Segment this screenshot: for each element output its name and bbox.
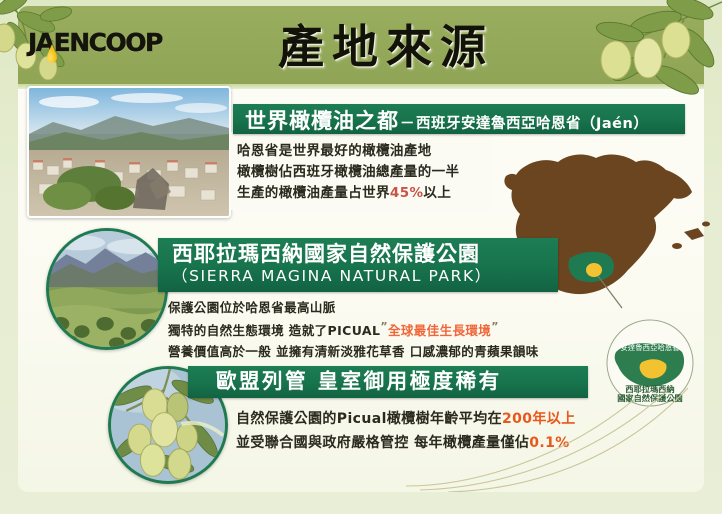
body-line: 獨特的自然生態環境 造就了PICUAL”全球最佳生長環境”	[168, 318, 558, 341]
text-run-plain: 獨特的自然生態環境 造就了PICUAL	[168, 323, 380, 338]
page-title: 產地來源	[236, 6, 536, 82]
map-callout-bubble: 安達魯西亞哈恩省 西耶拉瑪西納 國家自然保護公園	[598, 318, 702, 408]
photo-jaen-city	[27, 86, 231, 218]
text-run-plain: 哈恩省是世界最好的橄欖油產地	[237, 143, 432, 159]
section-2-title: 西耶拉瑪西納國家自然保護公園	[172, 242, 480, 267]
callout-park-line2: 國家自然保護公園	[617, 393, 683, 403]
section-3-body: 自然保護公園的Picual橄欖樹年齡平均在200年以上 並受聯合國與政府嚴格管控…	[188, 407, 588, 455]
text-run-plain: 橄欖樹佔西班牙橄欖油總產量的一半	[237, 164, 459, 180]
text-run-plain: 以上	[423, 185, 451, 201]
text-run-plain: 營養價值高於一般 並擁有清新淡雅花草香 口感濃郁的青蘋果韻味	[168, 344, 539, 359]
content-block-eu: 歐盟列管 皇室御用極度稀有 自然保護公園的Picual橄欖樹年齡平均在200年以…	[188, 366, 588, 455]
section-1-body: 哈恩省是世界最好的橄欖油產地 橄欖樹佔西班牙橄欖油總產量的一半 生產的橄欖油產量…	[233, 141, 685, 204]
brand-logo[interactable]: JAENCOOP	[28, 28, 162, 57]
text-run-quote: ”	[380, 320, 388, 333]
section-bar-1: 世界橄欖油之都 － 西班牙安達魯西亞哈恩省（Jaén）	[233, 104, 685, 134]
text-run-orange: 0.1%	[529, 435, 569, 451]
callout-region-label: 安達魯西亞哈恩省	[620, 343, 679, 352]
section-2-body: 保護公園位於哈恩省最高山脈 獨特的自然生態環境 造就了PICUAL”全球最佳生長…	[158, 298, 558, 362]
body-line: 生產的橄欖油產量占世界45%以上	[237, 183, 685, 204]
content-block-jaen: 世界橄欖油之都 － 西班牙安達魯西亞哈恩省（Jaén） 哈恩省是世界最好的橄欖油…	[233, 104, 685, 204]
body-line: 保護公園位於哈恩省最高山脈	[168, 298, 558, 318]
text-run-plain: 保護公園位於哈恩省最高山脈	[168, 300, 336, 315]
photo-sierra-magina	[46, 228, 168, 350]
text-run-quote: ”	[491, 320, 499, 333]
body-line: 並受聯合國與政府嚴格管控 每年橄欖產量僅佔0.1%	[236, 431, 588, 455]
text-run-red: 45%	[390, 185, 424, 201]
body-line: 哈恩省是世界最好的橄欖油產地	[237, 141, 685, 162]
section-3-title: 歐盟列管 皇室御用極度稀有	[216, 369, 502, 393]
section-bar-3: 歐盟列管 皇室御用極度稀有	[188, 366, 588, 398]
body-line: 營養價值高於一般 並擁有清新淡雅花草香 口感濃郁的青蘋果韻味	[168, 342, 558, 362]
section-2-title-en: （SIERRA MAGINA NATURAL PARK）	[172, 267, 492, 286]
body-line: 自然保護公園的Picual橄欖樹年齡平均在200年以上	[236, 407, 588, 431]
section-1-dash: －	[400, 109, 415, 139]
text-run-pick: 全球最佳生長環境	[388, 323, 491, 338]
section-bar-2: 西耶拉瑪西納國家自然保護公園 （SIERRA MAGINA NATURAL PA…	[158, 238, 558, 292]
body-line: 橄欖樹佔西班牙橄欖油總產量的一半	[237, 162, 685, 183]
poster-root: JAENCOOP 產地來源	[0, 0, 722, 514]
section-1-title: 世界橄欖油之都	[245, 106, 399, 136]
content-block-sierra: 西耶拉瑪西納國家自然保護公園 （SIERRA MAGINA NATURAL PA…	[158, 238, 558, 362]
text-run-plain: 並受聯合國與政府嚴格管控 每年橄欖產量僅佔	[236, 435, 529, 451]
text-run-orange: 200年以上	[502, 411, 576, 427]
section-1-subtitle: 西班牙安達魯西亞哈恩省（Jaén）	[416, 109, 648, 139]
text-run-plain: 生產的橄欖油產量占世界	[237, 185, 390, 201]
text-run-plain: 自然保護公園的Picual橄欖樹年齡平均在	[236, 411, 502, 427]
